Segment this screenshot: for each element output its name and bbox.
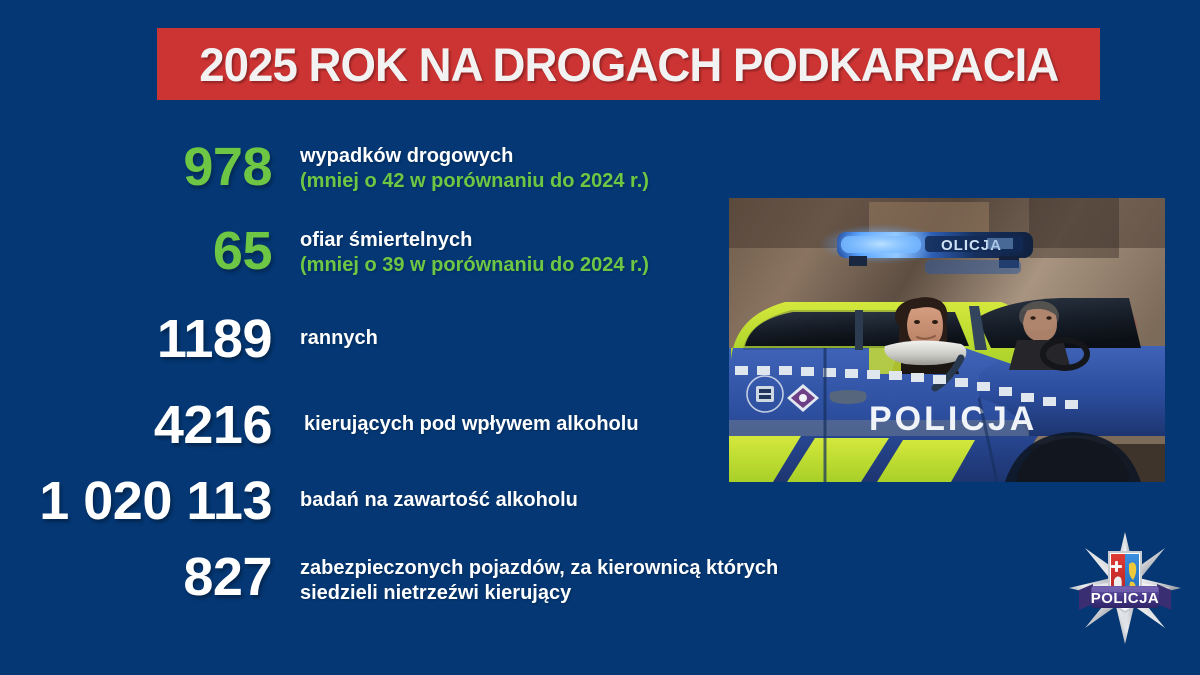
stat-label: kierujących pod wpływem alkoholu	[304, 412, 639, 437]
stat-number: 4216	[0, 398, 272, 452]
stat-label: zabezpieczonych pojazdów, za kierownicą …	[300, 556, 778, 581]
stat-number: 65	[0, 224, 272, 278]
stat-sublabel: (mniej o 42 w porównaniu do 2024 r.)	[300, 169, 649, 194]
stat-number: 827	[0, 550, 272, 604]
stat-number: 1189	[0, 312, 272, 366]
police-badge-logo: POLICJA	[1065, 528, 1185, 648]
stat-text-group: wypadków drogowych (mniej o 42 w porówna…	[272, 140, 649, 194]
police-car-photo: OLICJA	[729, 198, 1165, 482]
stat-row: 1189 rannych	[0, 312, 720, 366]
stat-number: 1 020 113	[0, 474, 272, 528]
stat-text-group: ofiar śmiertelnych (mniej o 39 w porówna…	[272, 224, 649, 278]
stat-label: ofiar śmiertelnych	[300, 228, 649, 253]
stat-text-group: badań na zawartość alkoholu	[272, 474, 578, 513]
svg-text:POLICJA: POLICJA	[869, 400, 1037, 438]
stat-label: wypadków drogowych	[300, 144, 649, 169]
stat-label: rannych	[300, 326, 378, 351]
stat-row: 4216 kierujących pod wpływem alkoholu	[0, 398, 720, 452]
stat-number: 978	[0, 140, 272, 194]
infographic-root: 2025 ROK NA DROGACH PODKARPACIA 978 wypa…	[0, 0, 1200, 675]
badge-text: POLICJA	[1091, 590, 1160, 607]
stat-text-group: kierujących pod wpływem alkoholu	[272, 398, 639, 437]
stat-row: 1 020 113 badań na zawartość alkoholu	[0, 474, 720, 528]
title-banner: 2025 ROK NA DROGACH PODKARPACIA	[157, 28, 1100, 100]
stat-row: 65 ofiar śmiertelnych (mniej o 39 w poró…	[0, 224, 720, 278]
stat-text-group: zabezpieczonych pojazdów, za kierownicą …	[272, 550, 778, 606]
stat-label-line2: siedzieli nietrzeźwi kierujący	[300, 581, 778, 606]
stat-row: 978 wypadków drogowych (mniej o 42 w por…	[0, 140, 720, 194]
stat-label: badań na zawartość alkoholu	[300, 488, 578, 513]
stat-text-group: rannych	[272, 312, 378, 351]
page-title: 2025 ROK NA DROGACH PODKARPACIA	[199, 37, 1058, 92]
stat-row: 827 zabezpieczonych pojazdów, za kierown…	[0, 550, 720, 606]
stat-sublabel: (mniej o 39 w porównaniu do 2024 r.)	[300, 253, 649, 278]
